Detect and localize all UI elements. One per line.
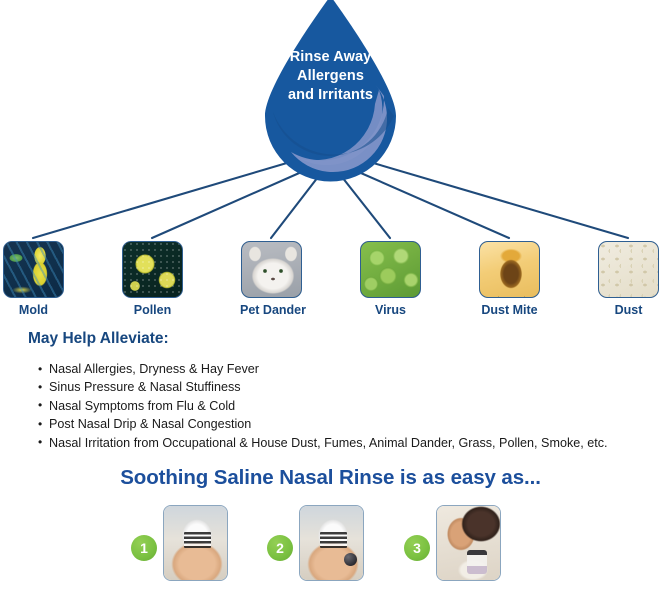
easy-as-headline: Soothing Saline Nasal Rinse is as easy a… [0, 466, 661, 490]
ray-to-pet-dander [271, 177, 318, 238]
cat-icon [241, 241, 302, 298]
allergen-label-virus: Virus [359, 303, 422, 317]
allergen-item-mold: Mold [2, 241, 65, 317]
virus-icon [360, 241, 421, 298]
allergen-label-dust: Dust [597, 303, 660, 317]
allergen-item-dust: Dust [597, 241, 660, 317]
list-item: Nasal Symptoms from Flu & Cold [38, 397, 648, 415]
mold-icon [3, 241, 64, 298]
allergen-label-mold: Mold [2, 303, 65, 317]
droplet-body [265, 0, 396, 182]
dust-icon [598, 241, 659, 298]
step-badge-3: 3 [404, 535, 430, 561]
droplet-graphic: Rinse Away Allergens and Irritants [253, 0, 408, 182]
step-photo-1 [163, 505, 228, 581]
step-badge-1: 1 [131, 535, 157, 561]
step-photo-2 [299, 505, 364, 581]
list-item: Sinus Pressure & Nasal Stuffiness [38, 378, 648, 396]
alleviate-section: May Help Alleviate: Nasal Allergies, Dry… [28, 330, 648, 452]
allergen-label-dust-mite: Dust Mite [478, 303, 541, 317]
list-item: Nasal Irritation from Occupational & Hou… [38, 434, 648, 452]
allergen-icon-row: Mold Pollen Pet Dander Virus Dust Mite D… [0, 241, 661, 326]
steps-row: 1 2 3 [0, 503, 661, 588]
allergen-item-pollen: Pollen [121, 241, 184, 317]
droplet-shape [253, 0, 408, 182]
allergen-label-pet-dander: Pet Dander [240, 303, 303, 317]
allergen-item-dust-mite: Dust Mite [478, 241, 541, 317]
pollen-icon [122, 241, 183, 298]
allergen-label-pollen: Pollen [121, 303, 184, 317]
infographic-root: Rinse Away Allergens and Irritants Mold … [0, 0, 661, 598]
list-item: Post Nasal Drip & Nasal Congestion [38, 415, 648, 433]
step-badge-2: 2 [267, 535, 293, 561]
allergen-item-pet-dander: Pet Dander [240, 241, 303, 317]
list-item: Nasal Allergies, Dryness & Hay Fever [38, 360, 648, 378]
dust-mite-icon [479, 241, 540, 298]
step-photo-3 [436, 505, 501, 581]
cap-blob [344, 553, 357, 566]
alleviate-heading: May Help Alleviate: [28, 330, 648, 348]
ray-to-virus [342, 177, 390, 238]
allergen-item-virus: Virus [359, 241, 422, 317]
alleviate-benefit-list: Nasal Allergies, Dryness & Hay Fever Sin… [28, 360, 648, 452]
